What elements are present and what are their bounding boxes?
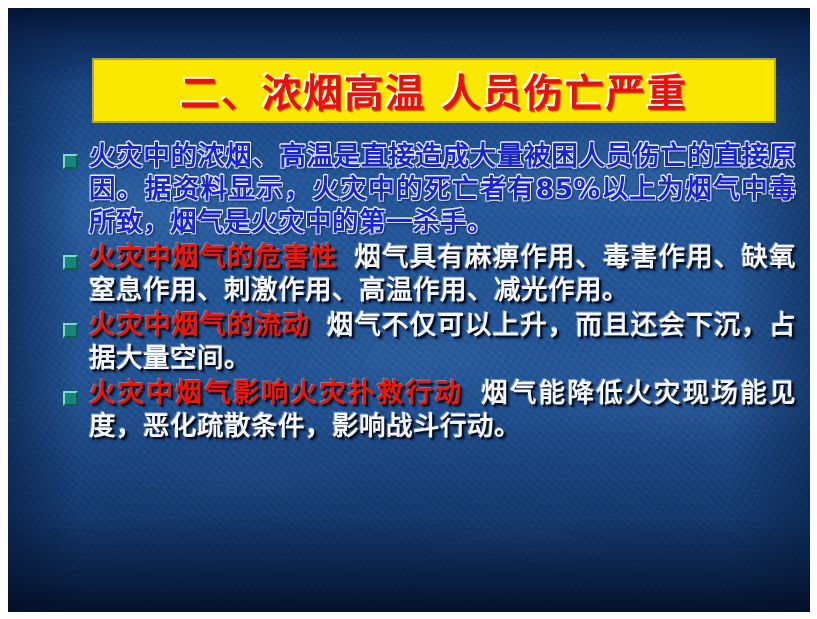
- slide-page-frame: 二、浓烟高温 人员伤亡严重 火灾中的浓烟、高温是直接造成大量被困人员伤亡的直接原…: [0, 0, 817, 619]
- square-bullet-icon: [63, 323, 78, 338]
- bullet-body: 火灾中烟气的危害性烟气具有麻痹作用、毒害作用、缺氧窒息作用、刺激作用、高温作用、…: [89, 241, 796, 307]
- slide-title-plaque: 二、浓烟高温 人员伤亡严重: [92, 58, 776, 123]
- bullet-lead-in: 火灾中烟气影响火灾扑救行动: [89, 378, 463, 409]
- bullet-body: 火灾中烟气的流动烟气不仅可以上升，而且还会下沉，占据大量空间。: [89, 309, 796, 375]
- bullet-body: 火灾中烟气影响火灾扑救行动烟气能降低火灾现场能见度，恶化疏散条件，影响战斗行动。: [89, 377, 796, 443]
- list-item: 火灾中烟气影响火灾扑救行动烟气能降低火灾现场能见度，恶化疏散条件，影响战斗行动。: [63, 377, 796, 443]
- slide-canvas: 二、浓烟高温 人员伤亡严重 火灾中的浓烟、高温是直接造成大量被困人员伤亡的直接原…: [8, 8, 810, 612]
- bullet-text: 火灾中的浓烟、高温是直接造成大量被困人员伤亡的直接原因。据资料显示，火灾中的死亡…: [89, 141, 796, 238]
- page-title: 二、浓烟高温 人员伤亡严重: [180, 63, 688, 119]
- list-item: 火灾中烟气的危害性烟气具有麻痹作用、毒害作用、缺氧窒息作用、刺激作用、高温作用、…: [63, 241, 796, 307]
- list-item: 火灾中的浓烟、高温是直接造成大量被困人员伤亡的直接原因。据资料显示，火灾中的死亡…: [63, 140, 796, 239]
- bullet-lead-in: 火灾中烟气的流动: [89, 310, 310, 341]
- bullet-body: 火灾中的浓烟、高温是直接造成大量被困人员伤亡的直接原因。据资料显示，火灾中的死亡…: [89, 140, 796, 239]
- square-bullet-icon: [63, 255, 78, 270]
- bullet-lead-in: 火灾中烟气的危害性: [89, 242, 338, 273]
- square-bullet-icon: [63, 154, 78, 169]
- square-bullet-icon: [63, 391, 78, 406]
- list-item: 火灾中烟气的流动烟气不仅可以上升，而且还会下沉，占据大量空间。: [63, 309, 796, 375]
- bullet-list: 火灾中的浓烟、高温是直接造成大量被困人员伤亡的直接原因。据资料显示，火灾中的死亡…: [63, 140, 796, 445]
